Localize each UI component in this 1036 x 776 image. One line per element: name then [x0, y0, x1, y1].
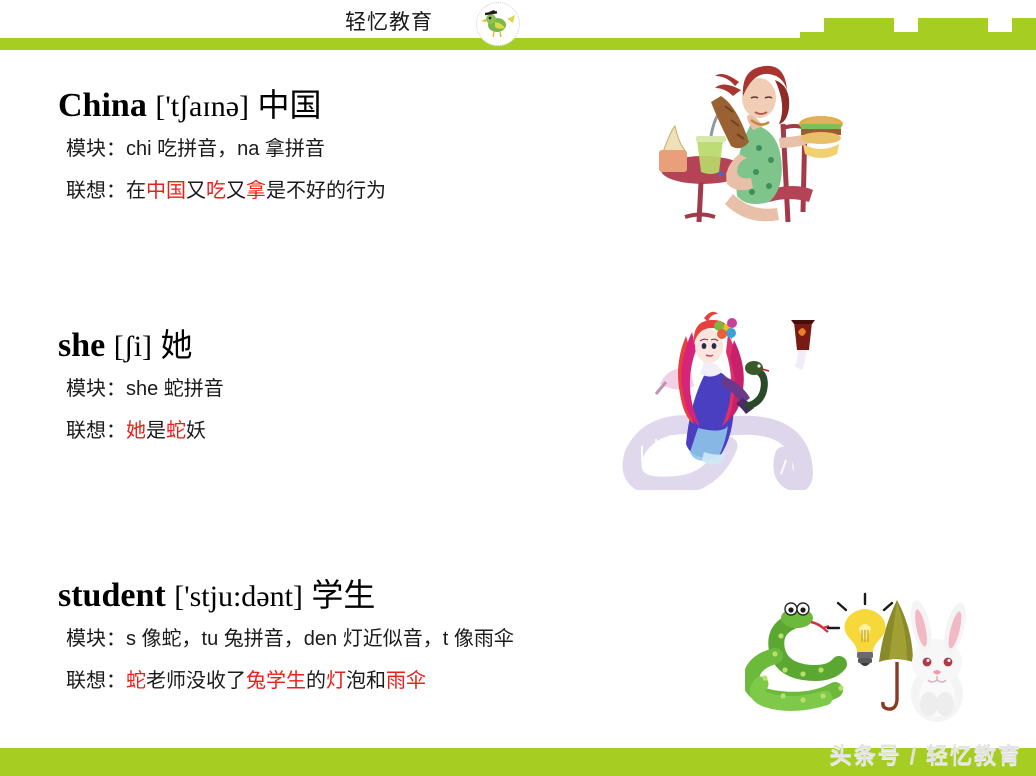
association-label: 联想： — [66, 180, 126, 202]
headword-line: China ['tʃaɪnə] 中国 — [58, 80, 322, 126]
header-battlement-decoration — [800, 12, 1036, 50]
module-text: s 像蛇，tu 兔拼音，den 灯近似音，t 像雨伞 — [126, 628, 514, 650]
association-line: 联想：蛇老师没收了兔学生的灯泡和雨伞 — [66, 664, 426, 693]
association-highlight: 蛇 — [126, 670, 146, 692]
association-text: 又 — [226, 180, 246, 202]
battlement-merlon — [824, 18, 894, 32]
association-line: 联想：她是蛇妖 — [66, 414, 206, 443]
association-text: 妖 — [186, 420, 206, 442]
association-highlight: 拿 — [246, 180, 266, 202]
module-text: chi 吃拼音，na 拿拼音 — [126, 138, 325, 160]
association-highlight: 灯 — [326, 670, 346, 692]
woman-eating-burger-fries-illustration — [655, 62, 845, 232]
association-highlight: 吃 — [206, 180, 226, 202]
headword-line: student ['stju:dənt] 学生 — [58, 570, 375, 616]
association-highlight: 蛇 — [166, 420, 186, 442]
association-line: 联想：在中国又吃又拿是不好的行为 — [66, 174, 386, 203]
association-text: 是 — [146, 420, 166, 442]
parrot-graduate-logo-icon — [476, 2, 520, 46]
headword-word: she — [58, 327, 105, 364]
slide-header: 轻忆教育 — [0, 0, 1036, 48]
association-text: 又 — [186, 180, 206, 202]
headword-line: she [ʃi] 她 — [58, 320, 193, 366]
module-line: 模块：she 蛇拼音 — [66, 372, 224, 401]
association-label: 联想： — [66, 670, 126, 692]
module-label: 模块： — [66, 138, 126, 160]
brand-title: 轻忆教育 — [345, 6, 433, 36]
snake-spirit-woman-illustration — [612, 310, 827, 490]
association-label: 联想： — [66, 420, 126, 442]
association-highlight: 雨伞 — [386, 670, 426, 692]
module-label: 模块： — [66, 378, 126, 400]
headword-word: student — [58, 577, 166, 614]
headword-meaning: 中国 — [258, 87, 322, 123]
association-highlight: 她 — [126, 420, 146, 442]
headword-word: China — [58, 87, 147, 124]
association-text: 老师没收了 — [146, 670, 246, 692]
battlement-merlon — [918, 18, 988, 32]
module-line: 模块：s 像蛇，tu 兔拼音，den 灯近似音，t 像雨伞 — [66, 622, 514, 651]
headword-meaning: 她 — [161, 327, 193, 363]
association-highlight: 中国 — [146, 180, 186, 202]
association-text: 泡和 — [346, 670, 386, 692]
slide-content: China ['tʃaɪnə] 中国 模块：chi 吃拼音，na 拿拼音 联想：… — [0, 50, 1036, 748]
headword-ipa: [ʃi] — [114, 330, 152, 363]
battlement-merlon — [1012, 18, 1036, 32]
headword-ipa: ['tʃaɪnə] — [155, 90, 249, 123]
association-text: 是不好的行为 — [266, 180, 386, 202]
footer-watermark: 头条号 / 轻忆教育 — [830, 738, 1022, 770]
headword-meaning: 学生 — [311, 577, 375, 613]
module-label: 模块： — [66, 628, 126, 650]
association-highlight: 兔学生 — [246, 670, 306, 692]
association-text: 在 — [126, 180, 146, 202]
module-text: she 蛇拼音 — [126, 378, 224, 400]
association-text: 的 — [306, 670, 326, 692]
module-line: 模块：chi 吃拼音，na 拿拼音 — [66, 132, 325, 161]
battlement-base — [800, 32, 1036, 50]
slide-root: 轻忆教育 — [0, 0, 1036, 776]
snake-bulb-umbrella-rabbit-illustration — [745, 578, 970, 728]
headword-ipa: ['stju:dənt] — [174, 580, 303, 613]
